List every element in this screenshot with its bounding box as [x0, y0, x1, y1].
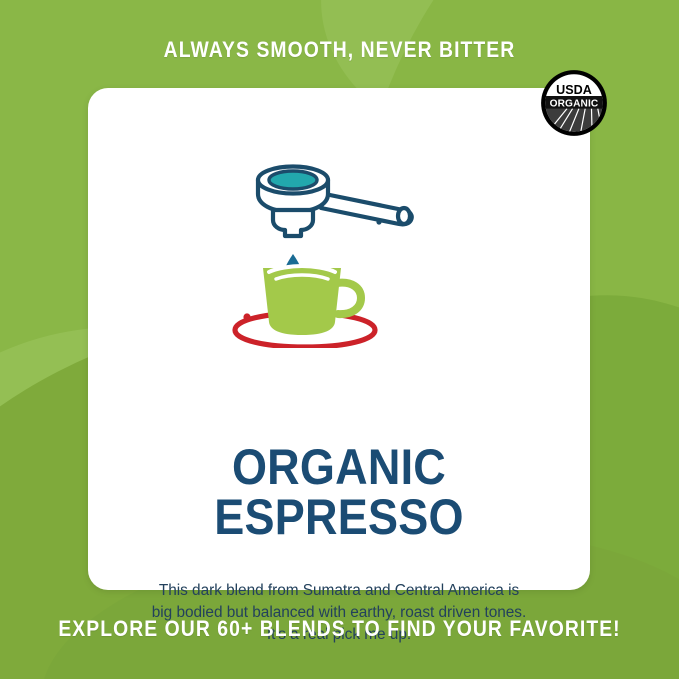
headline-text: ALWAYS SMOOTH, NEVER BITTER [48, 37, 632, 63]
product-poster: ALWAYS SMOOTH, NEVER BITTER [0, 0, 679, 679]
product-card: ORGANIC ESPRESSO This dark blend from Su… [88, 88, 590, 590]
usda-organic-seal: USDA ORGANIC [539, 68, 609, 138]
espresso-illustration [209, 148, 469, 348]
seal-organic-text: ORGANIC [550, 99, 599, 110]
product-title: ORGANIC ESPRESSO [113, 443, 565, 542]
seal-usda-text: USDA [556, 83, 592, 97]
product-title-line-1: ORGANIC [113, 443, 565, 493]
product-title-line-2: ESPRESSO [113, 493, 565, 543]
product-artwork [88, 148, 590, 348]
coffee-cup-icon [235, 266, 375, 347]
footline-text: EXPLORE OUR 60+ BLENDS TO FIND YOUR FAVO… [48, 616, 632, 642]
